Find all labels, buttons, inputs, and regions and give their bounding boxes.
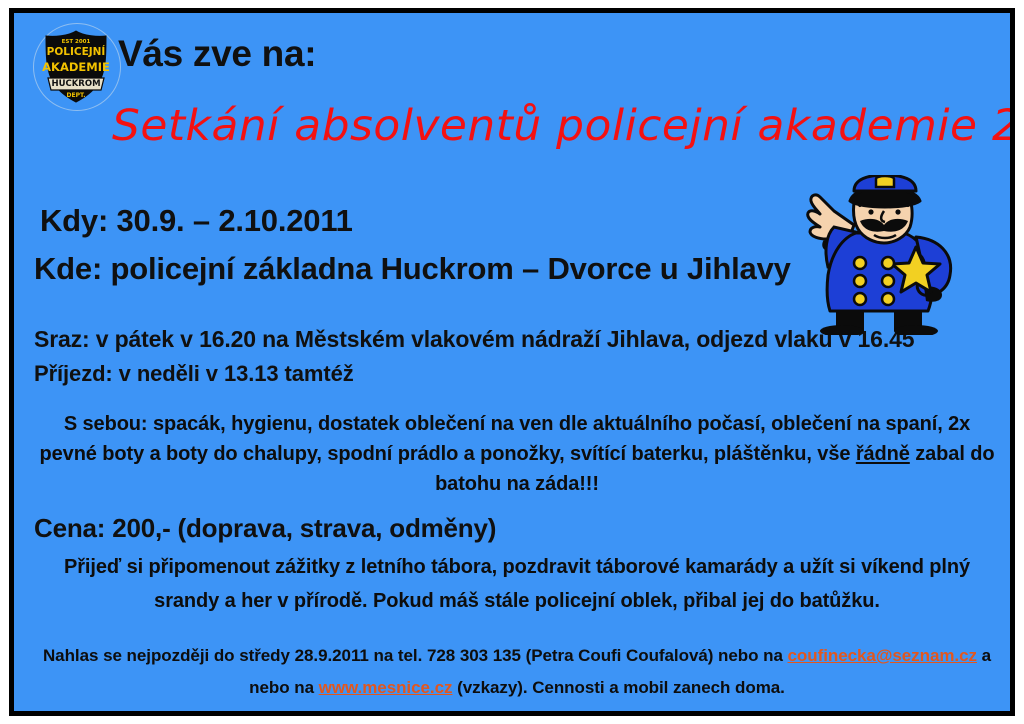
badge-line1-text: POLICEJNÍ — [47, 45, 106, 58]
poster-headline: Setkání absolventů policejní akademie 20… — [112, 101, 1015, 151]
when-line: Kdy: 30.9. – 2.10.2011 — [40, 203, 353, 239]
bring-list-part1: S sebou: spacák, hygienu, dostatek obleč… — [40, 413, 971, 465]
badge-line4-text: DEPT. — [67, 92, 86, 99]
police-academy-badge: EST 2001 POLICEJNÍ AKADEMIE HUCKROM DEPT… — [33, 23, 119, 109]
meet-line: Sraz: v pátek v 16.20 na Městském vlakov… — [34, 326, 914, 353]
badge-line3-text: HUCKROM — [51, 79, 100, 89]
badge-est-text: EST 2001 — [62, 39, 91, 45]
invite-line: Vás zve na: — [118, 33, 316, 75]
poster-content: EST 2001 POLICEJNÍ AKADEMIE HUCKROM DEPT… — [14, 13, 1010, 711]
bring-list-emphasis: řádně — [856, 443, 910, 465]
bring-list-paragraph: S sebou: spacák, hygienu, dostatek obleč… — [34, 409, 1000, 499]
email-link[interactable]: coufinecka@seznam.cz — [788, 646, 977, 665]
policeman-cartoon-illustration — [798, 175, 978, 335]
signup-paragraph: Nahlas se nejpozději do středy 28.9.2011… — [34, 640, 1000, 704]
signup-part3: (vzkazy). Cennosti a mobil zanech doma. — [452, 678, 784, 697]
poster-frame: EST 2001 POLICEJNÍ AKADEMIE HUCKROM DEPT… — [9, 8, 1015, 716]
arrival-line: Příjezd: v neděli v 13.13 tamtéž — [34, 361, 354, 387]
where-line: Kde: policejní základna Huckrom – Dvorce… — [34, 251, 791, 287]
come-paragraph: Přijeď si připomenout zážitky z letního … — [34, 550, 1000, 618]
website-link[interactable]: www.mesnice.cz — [319, 678, 453, 697]
badge-shield-icon: EST 2001 POLICEJNÍ AKADEMIE HUCKROM DEPT… — [38, 28, 114, 104]
price-line: Cena: 200,- (doprava, strava, odměny) — [34, 513, 496, 544]
badge-line2-text: AKADEMIE — [42, 60, 110, 74]
signup-part1: Nahlas se nejpozději do středy 28.9.2011… — [43, 646, 788, 665]
